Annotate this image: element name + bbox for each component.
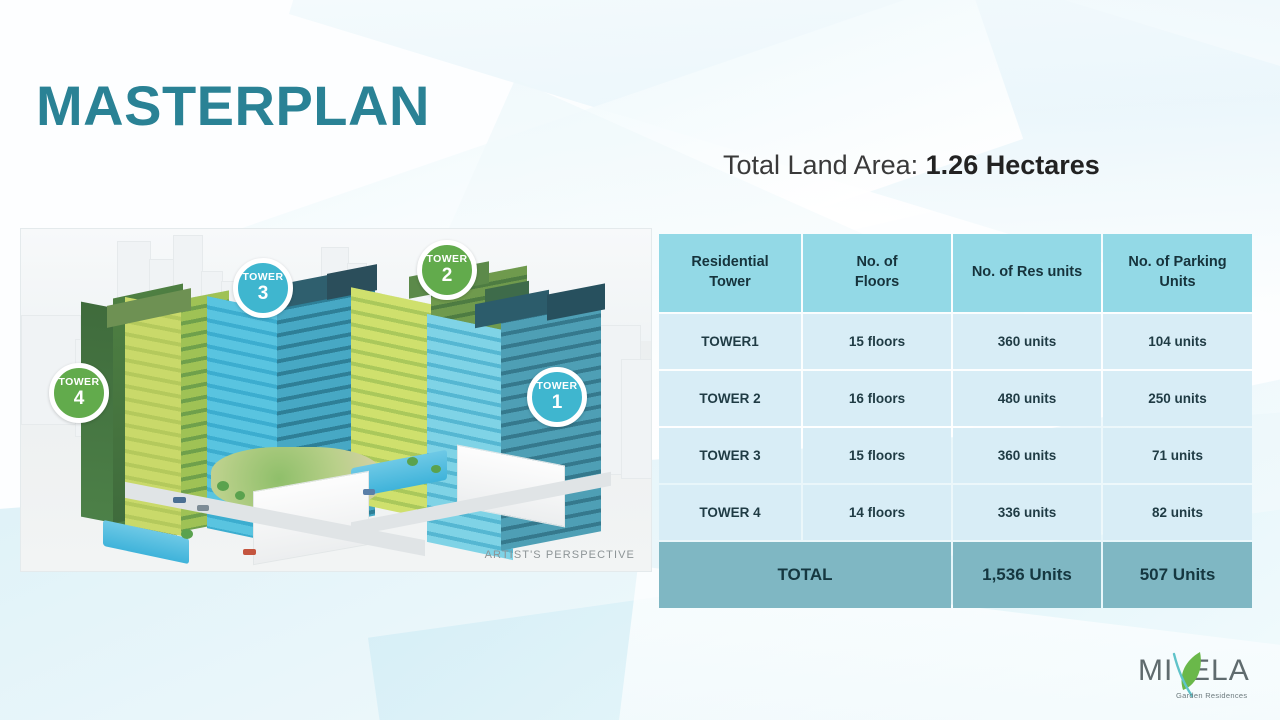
cell-tower-name: TOWER 2 [659,371,801,426]
car [363,489,375,495]
land-area-value: 1.26 Hectares [926,150,1100,180]
header-line: Units [1103,273,1252,293]
header-line: Floors [803,273,951,293]
tower-badge-3: TOWER 3 [233,258,293,318]
tower-badge-1-label: TOWER [537,381,578,392]
masterplan-table: Residential Tower No. of Floors No. of R… [657,232,1254,610]
tree [407,457,418,466]
tower-badge-2: TOWER 2 [417,240,477,300]
table-header-no-of-res-units: No. of Res units [953,234,1101,312]
cell-total-res-units: 1,536 Units [953,542,1101,608]
header-line: No. of [803,253,951,273]
tower-badge-3-label: TOWER [243,272,284,283]
land-area-label: Total Land Area: [723,150,926,180]
tower-badge-1-number: 1 [552,393,563,413]
car [197,505,209,511]
table-row: TOWER1 15 floors 360 units 104 units [659,314,1252,369]
table-header-no-of-parking-units: No. of Parking Units [1103,234,1252,312]
header-line: Tower [659,273,801,293]
mivela-logo: MI ELA Garden Residences [1138,644,1258,702]
header-line: No. of Parking [1103,253,1252,273]
header-line: No. of Res units [953,263,1101,283]
cell-floors: 14 floors [803,485,951,540]
total-land-area-text: Total Land Area: 1.26 Hectares [723,150,1100,181]
cell-res-units: 360 units [953,428,1101,483]
table-row: TOWER 3 15 floors 360 units 71 units [659,428,1252,483]
logo-tagline: Garden Residences [1176,691,1247,700]
table-row: TOWER 4 14 floors 336 units 82 units [659,485,1252,540]
cell-parking-units: 104 units [1103,314,1252,369]
bg-building [621,359,652,479]
table-header-no-of-floors: No. of Floors [803,234,951,312]
tower-badge-4-number: 4 [74,389,85,409]
table-total-row: TOTAL 1,536 Units 507 Units [659,542,1252,608]
table-header-row: Residential Tower No. of Floors No. of R… [659,234,1252,312]
cell-floors: 15 floors [803,428,951,483]
logo-wordmark: MI ELA [1138,652,1258,686]
tower-badge-2-label: TOWER [427,254,468,265]
cell-res-units: 336 units [953,485,1101,540]
tree [235,491,245,500]
cell-parking-units: 250 units [1103,371,1252,426]
car [173,497,186,503]
cell-floors: 15 floors [803,314,951,369]
cell-tower-name: TOWER 3 [659,428,801,483]
tree [217,481,229,491]
cell-floors: 16 floors [803,371,951,426]
cell-res-units: 360 units [953,314,1101,369]
header-line: Residential [659,253,801,273]
cell-parking-units: 82 units [1103,485,1252,540]
cell-total-parking-units: 507 Units [1103,542,1252,608]
table-row: TOWER 2 16 floors 480 units 250 units [659,371,1252,426]
car [243,549,256,555]
tower-badge-3-number: 3 [258,284,269,304]
table-header-residential-tower: Residential Tower [659,234,801,312]
cell-res-units: 480 units [953,371,1101,426]
cell-tower-name: TOWER1 [659,314,801,369]
logo-text-mi: MI [1138,656,1173,686]
tower-badge-4: TOWER 4 [49,363,109,423]
tower-badge-2-number: 2 [442,266,453,286]
cell-total-label: TOTAL [659,542,951,608]
tree [181,529,193,539]
tree [431,465,441,473]
tower-badge-1: TOWER 1 [527,367,587,427]
artist-perspective-caption: ARTIST'S PERSPECTIVE [485,549,635,561]
cell-tower-name: TOWER 4 [659,485,801,540]
page-title: MASTERPLAN [36,78,430,134]
tower-badge-4-label: TOWER [59,377,100,388]
cell-parking-units: 71 units [1103,428,1252,483]
